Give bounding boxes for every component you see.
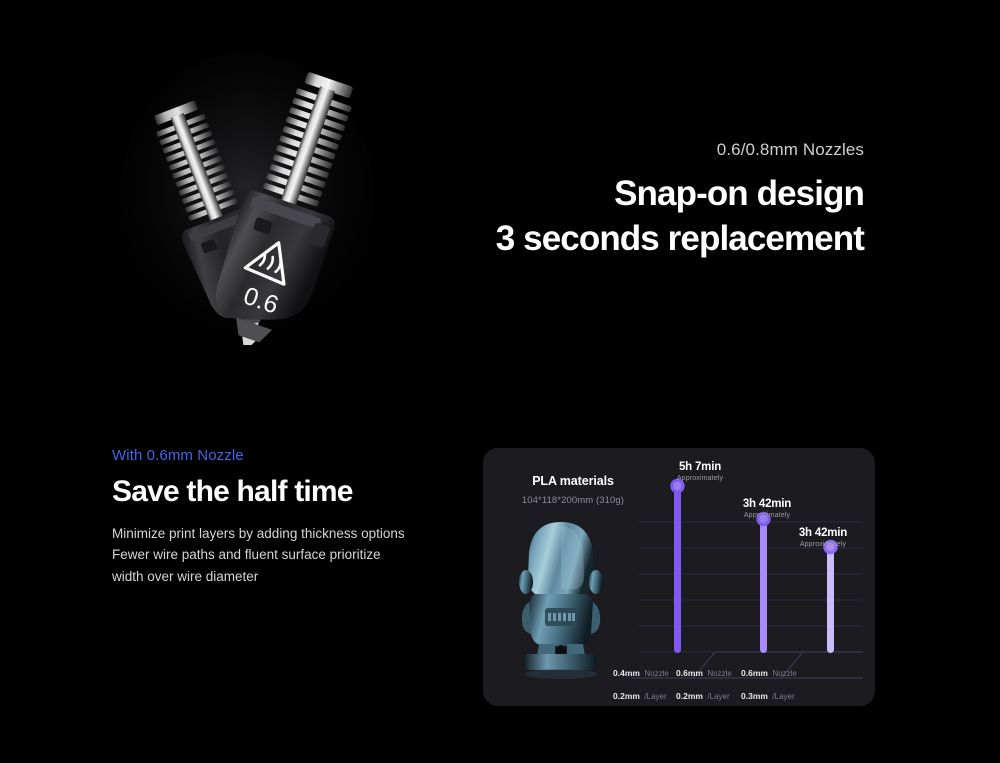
print-time-chart: 5h 7min Approximately 3h 42min Approxima…	[631, 460, 869, 692]
chart-category-0-layer-value: 0.2mm	[613, 691, 640, 701]
chart-bar-2	[827, 548, 834, 653]
material-info: PLA materials 104*118*200mm (310g)	[513, 474, 633, 506]
chart-bar-1	[760, 520, 767, 653]
hero-text-block: 0.6/0.8mm Nozzles Snap-on design 3 secon…	[304, 138, 864, 261]
hero-headline-line-1: Snap-on design	[304, 172, 864, 217]
chart-bar-0	[674, 487, 681, 653]
feature-description-line-1: Minimize print layers by adding thicknes…	[112, 523, 452, 544]
chart-category-2-layer-value: 0.3mm	[741, 691, 768, 701]
feature-title: Save the half time	[112, 475, 452, 509]
chart-category-2-layer-unit: /Layer	[772, 692, 794, 701]
chart-category-0-layer-unit: /Layer	[644, 692, 666, 701]
feature-text-block: With 0.6mm Nozzle Save the half time Min…	[112, 447, 452, 587]
chart-category-2-nozzle-unit: Nozzle	[772, 669, 796, 678]
chart-category-0-nozzle-unit: Nozzle	[644, 669, 668, 678]
chart-category-1-layer-unit: /Layer	[707, 692, 729, 701]
hero-eyebrow: 0.6/0.8mm Nozzles	[304, 138, 864, 162]
hero-section: 0.8	[0, 0, 1000, 420]
print-time-comparison-card: PLA materials 104*118*200mm (310g)	[483, 448, 875, 706]
feature-description-line-3: width over wire diameter	[112, 566, 452, 587]
chart-category-1-nozzle-value: 0.6mm	[676, 668, 703, 678]
hero-headline-line-2: 3 seconds replacement	[304, 217, 864, 262]
chart-bars	[670, 479, 837, 653]
chart-category-1-layer-value: 0.2mm	[676, 691, 703, 701]
feature-kicker: With 0.6mm Nozzle	[112, 447, 452, 464]
chart-category-2-nozzle-value: 0.6mm	[741, 668, 768, 678]
chart-category-0-nozzle-value: 0.4mm	[613, 668, 640, 678]
material-dimensions: 104*118*200mm (310g)	[513, 495, 633, 506]
feature-section: With 0.6mm Nozzle Save the half time Min…	[0, 420, 1000, 763]
chart-category-label-2: 0.6mm Nozzle 0.3mm /Layer	[741, 660, 825, 706]
material-title: PLA materials	[513, 474, 633, 488]
printed-model-image	[501, 516, 621, 681]
feature-description-line-2: Fewer wire paths and fluent surface prio…	[112, 544, 452, 565]
chart-svg	[631, 460, 869, 692]
chart-category-1-nozzle-unit: Nozzle	[707, 669, 731, 678]
